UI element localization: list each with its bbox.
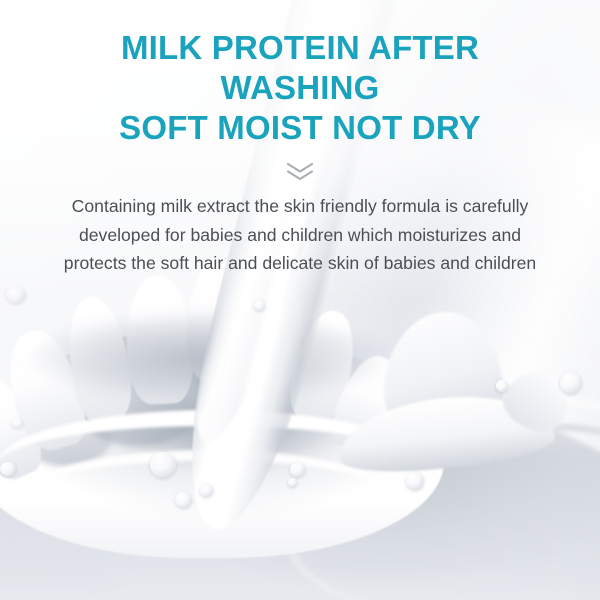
headline-line-1: MILK PROTEIN AFTER [119, 28, 481, 68]
body-copy-line-1: Containing milk extract the skin friendl… [64, 192, 536, 221]
headline-line-2: WASHING [119, 68, 481, 108]
body-copy-line-2: developed for babies and children which … [64, 221, 536, 250]
banner-content: MILK PROTEIN AFTER WASHING SOFT MOIST NO… [0, 0, 600, 600]
headline: MILK PROTEIN AFTER WASHING SOFT MOIST NO… [119, 28, 481, 148]
product-feature-banner: MILK PROTEIN AFTER WASHING SOFT MOIST NO… [0, 0, 600, 600]
double-chevron-down-icon [285, 161, 315, 181]
body-copy: Containing milk extract the skin friendl… [64, 192, 536, 278]
body-copy-line-3: protects the soft hair and delicate skin… [64, 249, 536, 278]
headline-line-3: SOFT MOIST NOT DRY [119, 108, 481, 148]
